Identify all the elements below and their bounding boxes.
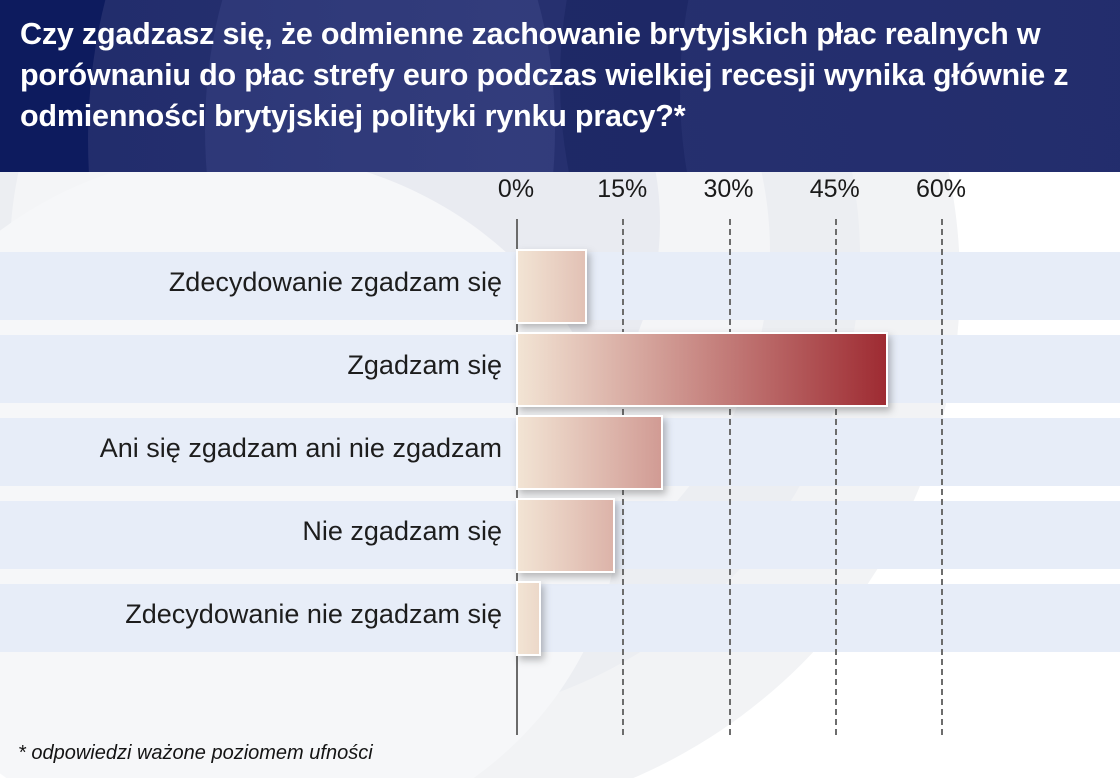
bar [516, 498, 615, 573]
category-label-text: Nie zgadzam się [302, 516, 502, 546]
category-label-text: Ani się zgadzam ani nie zgadzam [100, 433, 502, 463]
category-label-text: Zgadzam się [347, 350, 502, 380]
bar [516, 415, 663, 490]
bar [516, 249, 587, 324]
bar [516, 332, 888, 407]
x-axis-tick-label: 60% [916, 175, 966, 204]
category-label: Zgadzam się [0, 352, 502, 379]
category-label: Ani się zgadzam ani nie zgadzam [0, 435, 502, 462]
bar [516, 581, 541, 656]
category-label-text: Zdecydowanie zgadzam się [169, 267, 502, 297]
category-label: Nie zgadzam się [0, 518, 502, 545]
x-axis-tick-label: 0% [498, 175, 534, 204]
category-label: Zdecydowanie nie zgadzam się [0, 601, 502, 628]
chart-title: Czy zgadzasz się, że odmienne zachowanie… [20, 14, 1105, 137]
x-axis-tick-label: 30% [703, 175, 753, 204]
chart-header: Czy zgadzasz się, że odmienne zachowanie… [0, 0, 1120, 172]
category-label-text: Zdecydowanie nie zgadzam się [125, 599, 502, 629]
chart-plot-area: 0%15%30%45%60% Zdecydowanie zgadzam sięZ… [0, 172, 1120, 778]
gridline [941, 219, 943, 735]
x-axis-tick-label: 15% [597, 175, 647, 204]
category-label: Zdecydowanie zgadzam się [0, 269, 502, 296]
x-axis-tick-labels: 0%15%30%45%60% [0, 172, 1120, 216]
chart-footnote: * odpowiedzi ważone poziomem ufności [18, 742, 373, 765]
x-axis-tick-label: 45% [810, 175, 860, 204]
chart-page: Czy zgadzasz się, że odmienne zachowanie… [0, 0, 1120, 778]
gridline [835, 219, 837, 735]
gridline [729, 219, 731, 735]
